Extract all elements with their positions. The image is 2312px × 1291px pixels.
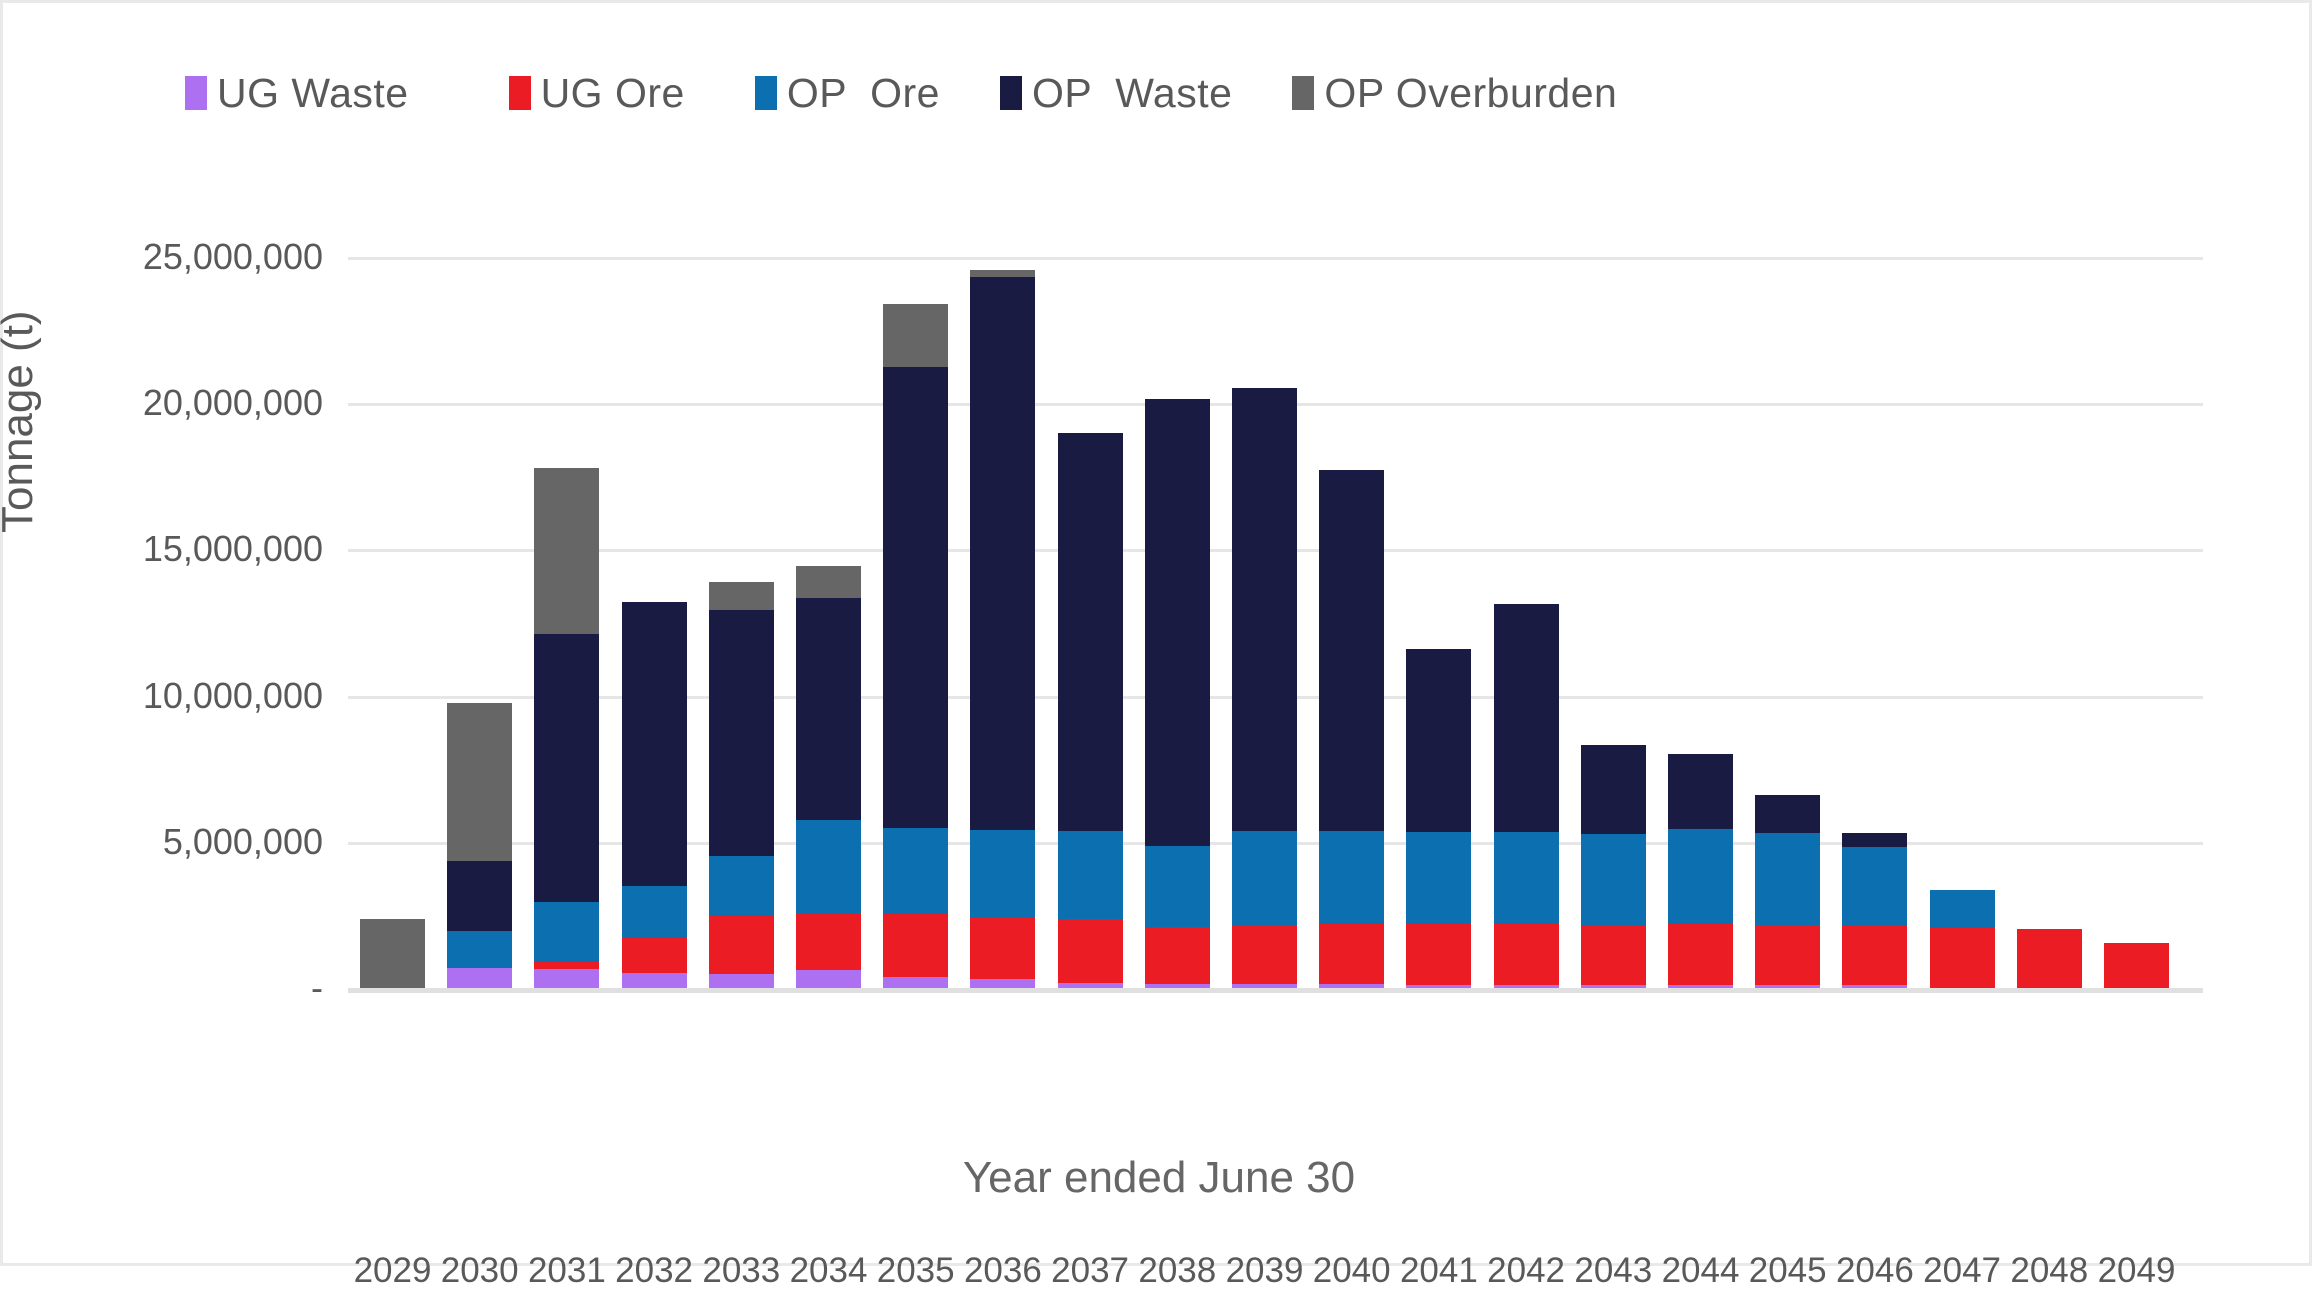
bar-2032[interactable] bbox=[622, 987, 687, 988]
bar-segment-ug-ore bbox=[796, 913, 861, 970]
bar-segment-ug-ore bbox=[1494, 924, 1559, 985]
bar-segment-op-ore bbox=[1145, 846, 1210, 926]
bar-segment-op-ore bbox=[1058, 831, 1123, 919]
bar-segment-ug-ore bbox=[1930, 928, 1995, 988]
bar-2046[interactable] bbox=[1842, 987, 1907, 988]
x-axis-tick-label: 2030 bbox=[435, 1251, 525, 1291]
chart-frame: UG WasteUG OreOP OreOP WasteOP Overburde… bbox=[0, 0, 2312, 1266]
bar-segment-op-waste bbox=[1842, 833, 1907, 848]
x-axis-tick-label: 2032 bbox=[609, 1251, 699, 1291]
bar-segment-ug-waste bbox=[1494, 985, 1559, 989]
bar-segment-ug-ore bbox=[1842, 926, 1907, 984]
bar-segment-op-waste bbox=[447, 861, 512, 931]
bar-segment-op-waste bbox=[534, 634, 599, 902]
x-axis-tick-label: 2039 bbox=[1220, 1251, 1310, 1291]
x-axis-tick-label: 2041 bbox=[1394, 1251, 1484, 1291]
bar-segment-ug-waste bbox=[447, 968, 512, 988]
x-axis-tick-label: 2029 bbox=[348, 1251, 438, 1291]
bar-segment-op-waste bbox=[1581, 745, 1646, 834]
bar-segment-ug-ore bbox=[1668, 924, 1733, 985]
bar-segment-ug-waste bbox=[1319, 984, 1384, 988]
bar-2048[interactable] bbox=[2017, 987, 2082, 988]
y-axis-tick-label: 5,000,000 bbox=[33, 821, 323, 863]
y-axis-tick-label: - bbox=[33, 967, 323, 1009]
bar-segment-op-waste bbox=[883, 367, 948, 828]
bar-segment-op-waste bbox=[1668, 754, 1733, 829]
bar-segment-ug-ore bbox=[1755, 925, 1820, 985]
bar-2034[interactable] bbox=[796, 987, 861, 988]
bar-2033[interactable] bbox=[709, 987, 774, 988]
bar-segment-ug-waste bbox=[1581, 985, 1646, 988]
bar-2035[interactable] bbox=[883, 987, 948, 988]
bar-segment-ug-waste bbox=[709, 974, 774, 988]
x-axis-tick-label: 2031 bbox=[522, 1251, 612, 1291]
bar-2044[interactable] bbox=[1668, 987, 1733, 988]
bar-2049[interactable] bbox=[2104, 987, 2169, 988]
bar-segment-op-waste bbox=[622, 602, 687, 886]
bar-segment-ug-waste bbox=[1058, 983, 1123, 988]
bar-segment-op-ore bbox=[709, 856, 774, 916]
bar-segment-op-ore bbox=[1842, 847, 1907, 926]
bar-segment-op-ore bbox=[1930, 890, 1995, 928]
bar-segment-op-ore bbox=[622, 886, 687, 939]
bar-segment-ug-waste bbox=[796, 970, 861, 988]
bar-2041[interactable] bbox=[1406, 987, 1471, 988]
bar-2043[interactable] bbox=[1581, 987, 1646, 988]
bar-segment-op-overburden bbox=[970, 270, 1035, 277]
bar-segment-op-waste bbox=[1232, 388, 1297, 831]
bar-segment-ug-ore bbox=[1406, 924, 1471, 985]
bar-segment-ug-ore bbox=[1058, 919, 1123, 983]
bar-segment-op-ore bbox=[447, 931, 512, 968]
y-axis-tick-label: 20,000,000 bbox=[33, 382, 323, 424]
bar-segment-op-ore bbox=[1581, 834, 1646, 926]
x-axis-tick-label: 2049 bbox=[2092, 1251, 2182, 1291]
bar-segment-op-ore bbox=[970, 830, 1035, 918]
bar-segment-op-overburden bbox=[534, 468, 599, 635]
bar-segment-op-ore bbox=[883, 828, 948, 914]
bar-segment-op-ore bbox=[1668, 829, 1733, 924]
bar-segment-ug-waste bbox=[1755, 985, 1820, 988]
bar-segment-op-ore bbox=[534, 902, 599, 962]
bar-segment-ug-ore bbox=[1581, 926, 1646, 984]
x-axis-tick-label: 2046 bbox=[1830, 1251, 1920, 1291]
bar-segment-op-overburden bbox=[447, 703, 512, 861]
bar-segment-ug-ore bbox=[970, 918, 1035, 979]
bar-segment-op-overburden bbox=[796, 566, 861, 598]
bar-2031[interactable] bbox=[534, 987, 599, 988]
bar-segment-ug-ore bbox=[1145, 927, 1210, 984]
bar-segment-op-waste bbox=[970, 277, 1035, 830]
bar-segment-op-overburden bbox=[360, 919, 425, 988]
y-axis-tick-label: 25,000,000 bbox=[33, 236, 323, 278]
bar-segment-op-ore bbox=[796, 820, 861, 914]
bar-segment-ug-ore bbox=[534, 962, 599, 969]
x-axis-tick-label: 2042 bbox=[1481, 1251, 1571, 1291]
bar-2045[interactable] bbox=[1755, 987, 1820, 988]
bar-segment-ug-ore bbox=[1232, 926, 1297, 984]
bar-2040[interactable] bbox=[1319, 987, 1384, 988]
bar-2030[interactable] bbox=[447, 987, 512, 988]
bar-segment-op-waste bbox=[1058, 433, 1123, 831]
bar-segment-ug-ore bbox=[2104, 943, 2169, 988]
bar-2039[interactable] bbox=[1232, 987, 1297, 988]
bar-2047[interactable] bbox=[1930, 987, 1995, 988]
x-axis-tick-label: 2040 bbox=[1307, 1251, 1397, 1291]
bar-segment-ug-waste bbox=[1406, 985, 1471, 989]
bar-segment-op-ore bbox=[1494, 832, 1559, 924]
bar-segment-ug-ore bbox=[883, 914, 948, 977]
x-axis-tick-label: 2043 bbox=[1568, 1251, 1658, 1291]
x-axis-tick-label: 2038 bbox=[1132, 1251, 1222, 1291]
bar-segment-ug-waste bbox=[1842, 985, 1907, 988]
bar-segment-op-ore bbox=[1755, 833, 1820, 925]
x-axis-tick-label: 2036 bbox=[958, 1251, 1048, 1291]
y-axis-tick-label: 10,000,000 bbox=[33, 675, 323, 717]
bar-segment-ug-waste bbox=[622, 973, 687, 988]
x-axis-tick-label: 2045 bbox=[1743, 1251, 1833, 1291]
bar-segment-op-waste bbox=[1319, 470, 1384, 831]
bar-2038[interactable] bbox=[1145, 987, 1210, 988]
bar-segment-ug-ore bbox=[2017, 929, 2082, 988]
bar-segment-op-ore bbox=[1406, 832, 1471, 924]
x-axis-tick-label: 2033 bbox=[696, 1251, 786, 1291]
bar-segment-ug-ore bbox=[709, 916, 774, 974]
bar-segment-op-waste bbox=[1755, 795, 1820, 833]
x-axis-tick-label: 2047 bbox=[1917, 1251, 2007, 1291]
bar-2042[interactable] bbox=[1494, 987, 1559, 988]
plot-area: 2029203020312032203320342035203620372038… bbox=[358, 253, 2193, 992]
x-axis-title: Year ended June 30 bbox=[3, 1153, 2312, 1203]
y-axis-tick-label: 15,000,000 bbox=[33, 528, 323, 570]
bar-2029[interactable] bbox=[360, 987, 425, 988]
x-axis-tick-label: 2034 bbox=[784, 1251, 874, 1291]
x-axis-tick-label: 2044 bbox=[1656, 1251, 1746, 1291]
bar-segment-op-waste bbox=[1145, 399, 1210, 846]
bar-segment-op-ore bbox=[1319, 831, 1384, 925]
bar-segment-ug-waste bbox=[534, 969, 599, 988]
x-axis-tick-label: 2048 bbox=[2004, 1251, 2094, 1291]
x-axis-tick-label: 2035 bbox=[871, 1251, 961, 1291]
bar-segment-ug-waste bbox=[1668, 985, 1733, 988]
bar-segment-ug-waste bbox=[970, 979, 1035, 988]
bar-segment-ug-waste bbox=[1145, 984, 1210, 988]
bar-segment-op-ore bbox=[1232, 831, 1297, 926]
bar-segment-op-waste bbox=[1406, 649, 1471, 832]
bar-segment-op-overburden bbox=[709, 582, 774, 610]
bar-segment-ug-waste bbox=[1232, 984, 1297, 988]
bar-segment-op-overburden bbox=[883, 304, 948, 367]
bar-2036[interactable] bbox=[970, 987, 1035, 988]
bar-segment-op-waste bbox=[709, 610, 774, 856]
bar-segment-ug-waste bbox=[883, 977, 948, 988]
bar-segment-op-waste bbox=[1494, 604, 1559, 832]
bar-segment-op-waste bbox=[796, 598, 861, 820]
x-axis-tick-label: 2037 bbox=[1045, 1251, 1135, 1291]
bar-segment-ug-ore bbox=[1319, 924, 1384, 984]
bar-segment-ug-ore bbox=[622, 938, 687, 973]
bar-2037[interactable] bbox=[1058, 987, 1123, 988]
